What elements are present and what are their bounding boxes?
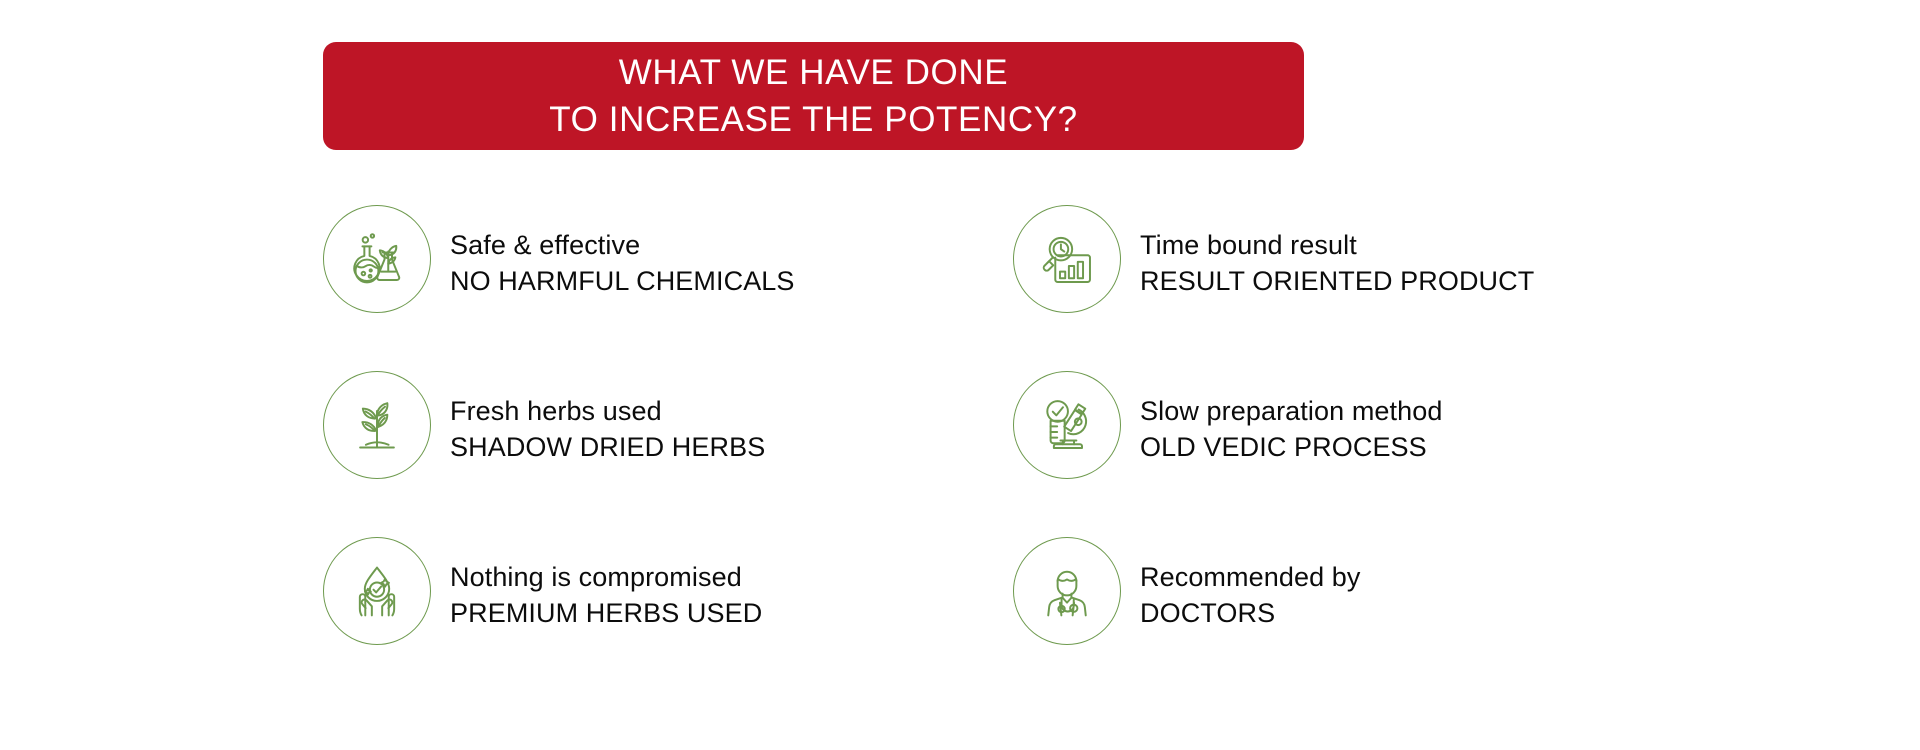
hands-droplet-check-icon — [323, 537, 431, 645]
feature-item-slow-preparation: Slow preparation method OLD VEDIC PROCES… — [1013, 371, 1613, 479]
feature-text: Recommended by DOCTORS — [1140, 537, 1361, 630]
feature-subtitle: OLD VEDIC PROCESS — [1140, 431, 1442, 464]
feature-text: Slow preparation method OLD VEDIC PROCES… — [1140, 371, 1442, 464]
doctor-stethoscope-icon — [1013, 537, 1121, 645]
feature-title: Recommended by — [1140, 561, 1361, 594]
flask-plant-icon — [323, 205, 431, 313]
growing-plant-icon — [323, 371, 431, 479]
feature-subtitle: DOCTORS — [1140, 597, 1361, 630]
infographic-page: WHAT WE HAVE DONE TO INCREASE THE POTENC… — [0, 0, 1920, 750]
feature-text: Fresh herbs used SHADOW DRIED HERBS — [450, 371, 765, 464]
feature-title: Safe & effective — [450, 229, 795, 262]
feature-title: Fresh herbs used — [450, 395, 765, 428]
microscope-check-icon — [1013, 371, 1121, 479]
feature-subtitle: PREMIUM HERBS USED — [450, 597, 762, 630]
feature-subtitle: SHADOW DRIED HERBS — [450, 431, 765, 464]
feature-text: Safe & effective NO HARMFUL CHEMICALS — [450, 205, 795, 298]
feature-title: Time bound result — [1140, 229, 1534, 262]
feature-grid: Safe & effective NO HARMFUL CHEMICALS — [323, 205, 1613, 703]
feature-text: Nothing is compromised PREMIUM HERBS USE… — [450, 537, 762, 630]
feature-item-nothing-compromised: Nothing is compromised PREMIUM HERBS USE… — [323, 537, 1013, 645]
feature-item-time-bound-result: Time bound result RESULT ORIENTED PRODUC… — [1013, 205, 1613, 313]
feature-item-safe-effective: Safe & effective NO HARMFUL CHEMICALS — [323, 205, 1013, 313]
magnifier-bar-chart-icon — [1013, 205, 1121, 313]
feature-item-recommended-doctors: Recommended by DOCTORS — [1013, 537, 1613, 645]
feature-title: Slow preparation method — [1140, 395, 1442, 428]
feature-text: Time bound result RESULT ORIENTED PRODUC… — [1140, 205, 1534, 298]
feature-subtitle: RESULT ORIENTED PRODUCT — [1140, 265, 1534, 298]
feature-item-fresh-herbs: Fresh herbs used SHADOW DRIED HERBS — [323, 371, 1013, 479]
feature-subtitle: NO HARMFUL CHEMICALS — [450, 265, 795, 298]
headline-line-2: TO INCREASE THE POTENCY? — [549, 96, 1078, 143]
feature-title: Nothing is compromised — [450, 561, 762, 594]
headline-banner: WHAT WE HAVE DONE TO INCREASE THE POTENC… — [323, 42, 1304, 150]
headline-line-1: WHAT WE HAVE DONE — [619, 49, 1008, 96]
